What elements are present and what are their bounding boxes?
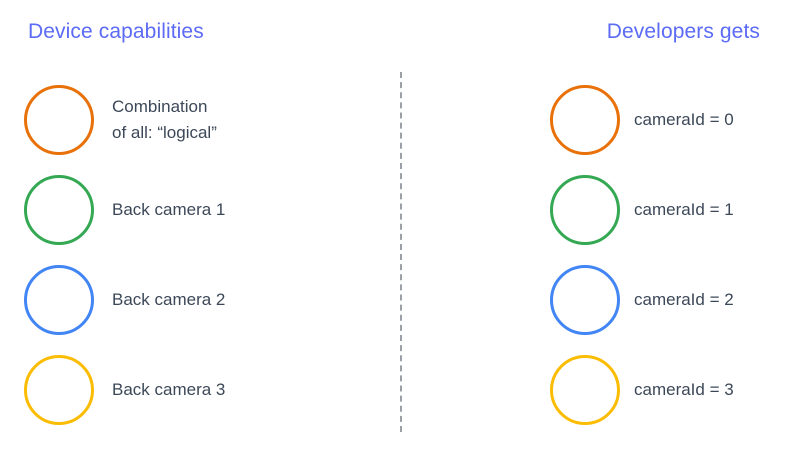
camera-circle-icon <box>24 85 94 155</box>
left-column-header: Device capabilities <box>28 20 204 44</box>
camera-circle-icon <box>550 175 620 245</box>
list-item-label: Back camera 3 <box>112 377 225 403</box>
list-item: Back camera 1 <box>24 175 225 245</box>
diagram-canvas: Device capabilities Developers gets Comb… <box>0 0 800 467</box>
list-item-label: Combination of all: “logical” <box>112 94 217 146</box>
camera-circle-icon <box>550 265 620 335</box>
list-item-label: Back camera 2 <box>112 287 225 313</box>
list-item-label: cameraId = 2 <box>634 287 734 313</box>
list-item: Combination of all: “logical” <box>24 85 225 155</box>
list-item: Back camera 2 <box>24 265 225 335</box>
list-item: cameraId = 3 <box>550 355 734 425</box>
camera-circle-icon <box>550 355 620 425</box>
camera-circle-icon <box>550 85 620 155</box>
list-item-label: cameraId = 3 <box>634 377 734 403</box>
vertical-dashed-divider <box>400 72 402 432</box>
list-item: cameraId = 0 <box>550 85 734 155</box>
left-column: Combination of all: “logical” Back camer… <box>24 85 225 445</box>
right-column-header: Developers gets <box>607 20 760 44</box>
list-item-label: Back camera 1 <box>112 197 225 223</box>
list-item: Back camera 3 <box>24 355 225 425</box>
list-item-label: cameraId = 1 <box>634 197 734 223</box>
right-column: cameraId = 0 cameraId = 1 cameraId = 2 c… <box>550 85 734 445</box>
camera-circle-icon <box>24 175 94 245</box>
camera-circle-icon <box>24 265 94 335</box>
camera-circle-icon <box>24 355 94 425</box>
list-item: cameraId = 2 <box>550 265 734 335</box>
list-item: cameraId = 1 <box>550 175 734 245</box>
list-item-label: cameraId = 0 <box>634 107 734 133</box>
